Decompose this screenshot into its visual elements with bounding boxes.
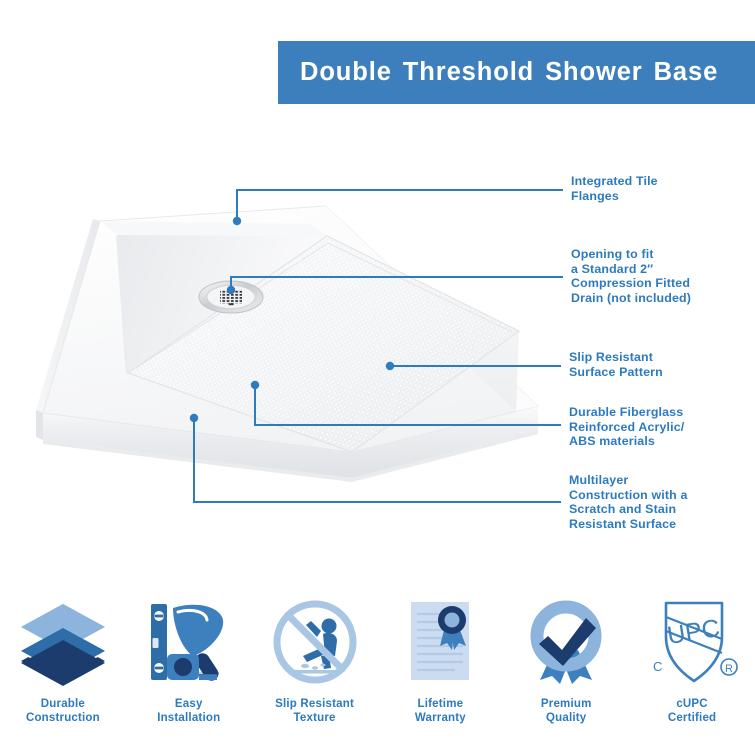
feature-lifetime-warranty: Lifetime Warranty bbox=[377, 578, 503, 755]
anchor-dot-durable-fiberglass-materials bbox=[251, 381, 259, 389]
anchor-dot-drain-opening bbox=[227, 286, 235, 294]
feature-label-slip-resistant: Slip Resistant Texture bbox=[275, 697, 354, 725]
anchor-dot-multilayer-construction bbox=[190, 414, 198, 422]
feature-label-easy-installation: Easy Installation bbox=[157, 697, 220, 725]
feature-badge-strip: Durable Construction bbox=[0, 578, 755, 755]
callout-label-multilayer-construction: Multilayer Construction with a Scratch a… bbox=[569, 473, 688, 531]
ribbon-check-icon bbox=[518, 596, 614, 688]
upc-prefix-text: C bbox=[653, 659, 662, 674]
base-left-face bbox=[36, 410, 43, 440]
product-hero: Integrated Tile Flanges Opening to fit a… bbox=[0, 0, 755, 578]
callout-label-durable-fiberglass-materials: Durable Fiberglass Reinforced Acrylic/ A… bbox=[569, 405, 684, 449]
feature-label-premium-quality: Premium Quality bbox=[541, 697, 592, 725]
feature-slip-resistant: Slip Resistant Texture bbox=[252, 578, 378, 755]
trowel-level-icon bbox=[141, 596, 237, 688]
callout-label-drain-opening: Opening to fit a Standard 2″ Compression… bbox=[571, 247, 691, 305]
callout-label-integrated-tile-flanges: Integrated Tile Flanges bbox=[571, 174, 658, 203]
feature-label-lifetime-warranty: Lifetime Warranty bbox=[415, 697, 466, 725]
layers-icon bbox=[15, 596, 111, 688]
feature-label-durable-construction: Durable Construction bbox=[26, 697, 100, 725]
feature-durable-construction: Durable Construction bbox=[0, 578, 126, 755]
feature-cupc-certified: UPC C R cUPC Certified bbox=[629, 578, 755, 755]
anchor-dot-integrated-tile-flanges bbox=[233, 217, 241, 225]
svg-text:R: R bbox=[725, 663, 733, 675]
certificate-icon bbox=[392, 596, 488, 688]
feature-label-cupc-certified: cUPC Certified bbox=[668, 697, 716, 725]
no-slip-icon bbox=[267, 596, 363, 688]
upc-shield-icon: UPC C R bbox=[644, 596, 740, 688]
callout-label-slip-resistant-surface-pattern: Slip Resistant Surface Pattern bbox=[569, 350, 663, 379]
feature-premium-quality: Premium Quality bbox=[503, 578, 629, 755]
anchor-dot-slip-resistant-surface-pattern bbox=[386, 362, 394, 370]
feature-easy-installation: Easy Installation bbox=[126, 578, 252, 755]
